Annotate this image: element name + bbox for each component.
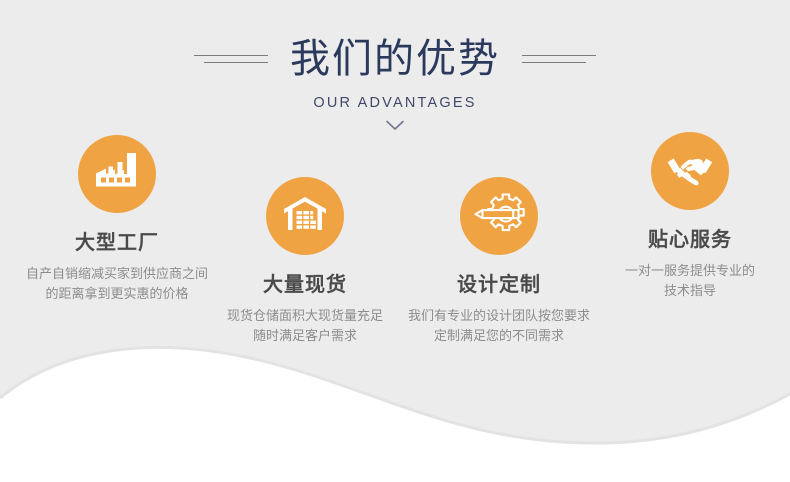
card-description: 现货仓储面积大现货量充足 随时满足客户需求 [206, 306, 404, 346]
icon-circle [266, 177, 344, 255]
warehouse-icon [281, 192, 329, 241]
card-title: 大量现货 [206, 268, 404, 297]
section-heading: 我们的优势 OUR ADVANTAGES [0, 34, 790, 131]
factory-icon [93, 150, 141, 199]
title-decoration-right-icon [522, 48, 596, 70]
card-title: 大型工厂 [6, 226, 228, 255]
advantage-card-service[interactable]: 贴心服务 一对一服务提供专业的 技术指导 [592, 132, 788, 301]
card-description: 自产自销缩减买家到供应商之间 的距离拿到更实惠的价格 [6, 264, 228, 304]
section-subtitle: OUR ADVANTAGES [0, 95, 790, 111]
advantage-card-stock[interactable]: 大量现货 现货仓储面积大现货量充足 随时满足客户需求 [206, 177, 404, 346]
icon-circle [460, 177, 538, 255]
icon-circle [78, 135, 156, 213]
card-description: 一对一服务提供专业的 技术指导 [592, 261, 788, 301]
page-title: 我们的优势 [290, 34, 500, 84]
advantage-card-design[interactable]: 设计定制 我们有专业的设计团队按您要求 定制满足您的不同需求 [399, 177, 599, 346]
card-title: 设计定制 [399, 268, 599, 297]
chevron-down-icon [0, 120, 790, 131]
card-description: 我们有专业的设计团队按您要求 定制满足您的不同需求 [399, 306, 599, 346]
handshake-icon [665, 147, 715, 196]
advantages-section: 我们的优势 OUR ADVANTAGES [0, 0, 790, 482]
card-title: 贴心服务 [592, 223, 788, 252]
title-row: 我们的优势 [0, 34, 790, 84]
title-decoration-left-icon [194, 48, 268, 70]
advantage-card-factory[interactable]: 大型工厂 自产自销缩减买家到供应商之间 的距离拿到更实惠的价格 [6, 135, 228, 304]
gear-pencil-icon [473, 191, 525, 242]
icon-circle [651, 132, 729, 210]
